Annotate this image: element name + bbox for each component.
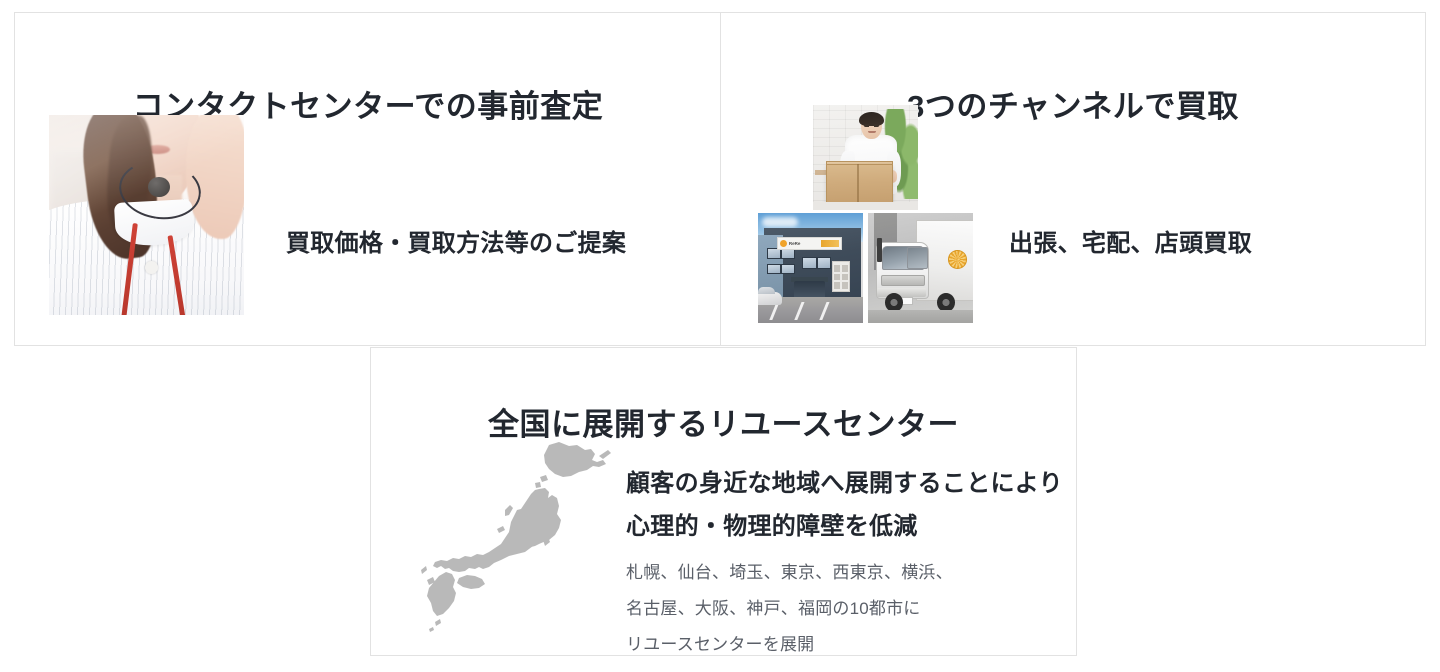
panel-reuse-centers-sub-line3: リユースセンターを展開	[626, 629, 814, 660]
board-cell	[834, 274, 840, 280]
cloud-shape	[762, 217, 798, 227]
board-cell	[834, 282, 840, 288]
mouth-shape	[868, 131, 876, 133]
ground-strip	[868, 310, 973, 323]
window	[767, 264, 781, 275]
window	[817, 257, 832, 269]
info-board	[832, 261, 851, 292]
panel-contact-center: コンタクトセンターでの事前査定 買取価格・買取方法等のご提案	[14, 12, 721, 346]
panel-channels-body: 出張、宅配、店頭買取	[1009, 227, 1252, 262]
board-cell	[842, 282, 848, 288]
panel-reuse-centers-sub-line2: 名古屋、大阪、神戸、福岡の10都市に	[626, 593, 921, 624]
panel-reuse-centers-body-line2: 心理的・物理的障壁を低減	[626, 510, 918, 545]
sign-banner	[821, 240, 839, 247]
front-bumper	[877, 288, 925, 297]
store-sign: ReRe	[777, 237, 842, 250]
board-cell	[842, 265, 848, 271]
front-grille	[881, 275, 925, 287]
store-sign-text: ReRe	[789, 242, 801, 247]
panel-reuse-centers-sub-line1: 札幌、仙台、埼玉、東京、西東京、横浜、	[626, 557, 953, 588]
eyes-shape	[864, 124, 879, 127]
parked-car	[758, 292, 782, 305]
shirt-button	[145, 261, 158, 274]
panel-reuse-centers: 全国に展開するリユースセンター	[370, 347, 1077, 656]
floor-strip	[813, 202, 918, 210]
board-cell	[834, 265, 840, 271]
slide-canvas: コンタクトセンターでの事前査定 買取価格・買取方法等のご提案 3つのチャンネルで…	[0, 0, 1440, 672]
microphone-icon	[148, 177, 169, 197]
japan-map	[409, 436, 619, 641]
board-cell	[842, 274, 848, 280]
window	[802, 257, 817, 269]
pickup-truck-photo	[868, 213, 973, 323]
panel-reuse-centers-body-line1: 顧客の身近な地域へ展開することにより	[626, 467, 1063, 502]
side-window	[907, 247, 928, 269]
panel-contact-center-body: 買取価格・買取方法等のご提案	[286, 227, 626, 262]
panel-channels: 3つのチャンネルで買取	[720, 12, 1426, 346]
window	[781, 264, 795, 275]
store-exterior-photo: ReRe	[758, 213, 863, 323]
delivery-staff-photo	[813, 105, 918, 210]
side-mirror	[877, 238, 881, 262]
contact-center-operator-photo	[49, 115, 244, 315]
company-logo-icon	[948, 250, 967, 269]
rere-logo-icon	[780, 240, 787, 247]
